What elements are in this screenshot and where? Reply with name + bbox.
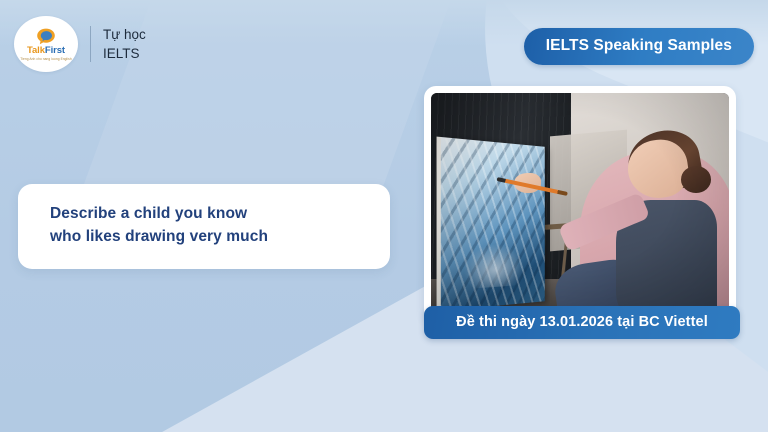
logo-word-talk: Talk [27,45,45,56]
logo-word-first: First [45,45,65,56]
brand-line-2: IELTS [103,46,146,62]
talkfirst-logo[interactable]: TalkFirst Tieng Anh cho nang luong Engli… [14,16,78,72]
photo-card [424,86,736,322]
brand-line-1: Tự học [103,27,146,43]
question-line-2: who likes drawing very much [50,225,364,248]
speech-bubble-icon [36,28,56,45]
logo-wordmark: TalkFirst [27,46,65,56]
exam-date-caption: Đề thi ngày 13.01.2026 tại BC Viettel [424,306,740,339]
logo-tagline: Tieng Anh cho nang luong English [20,57,71,61]
painting-woman-photo [431,93,729,315]
poster-canvas: TalkFirst Tieng Anh cho nang luong Engli… [0,0,768,432]
question-line-1: Describe a child you know [50,202,364,225]
brand-divider [90,26,91,62]
question-card: Describe a child you know who likes draw… [18,184,390,269]
brand-text-block: Tự học IELTS [103,27,146,61]
ielts-speaking-samples-badge[interactable]: IELTS Speaking Samples [524,28,754,65]
brand-block[interactable]: TalkFirst Tieng Anh cho nang luong Engli… [14,16,146,72]
photo-vignette [431,93,729,315]
